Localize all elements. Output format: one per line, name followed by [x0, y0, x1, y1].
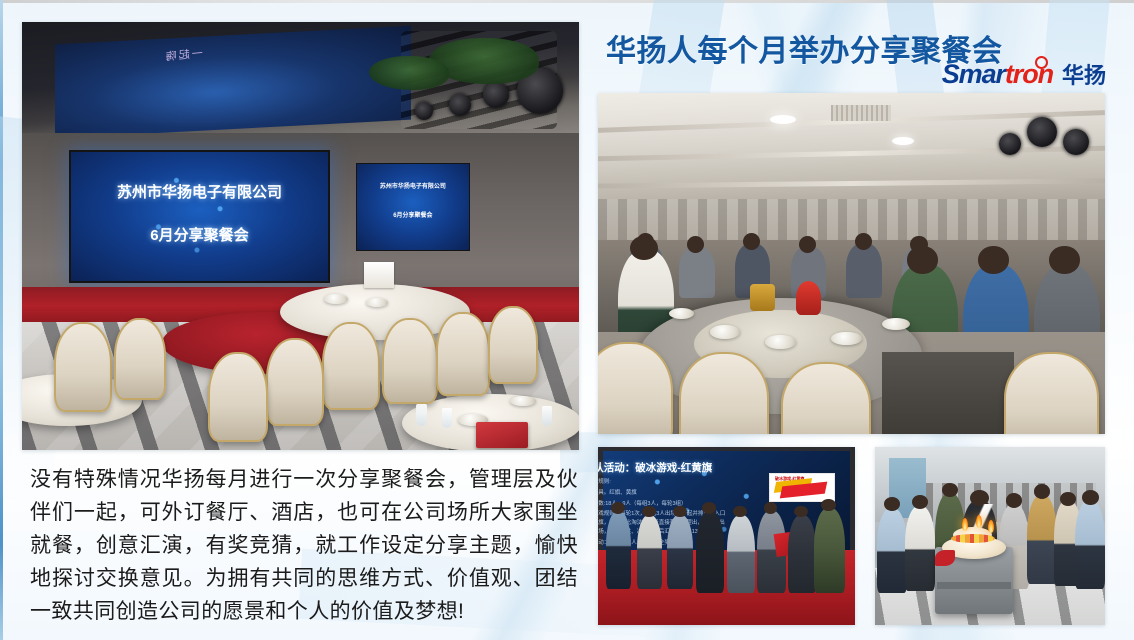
banquet-chair-8 [114, 318, 166, 400]
banquet-plate-3 [831, 332, 861, 346]
table-centerpiece-red [796, 281, 821, 315]
brand-logo-smar: Smar [942, 59, 1005, 90]
banquet-plate-2 [765, 335, 795, 349]
side-led-screen: 苏州市华扬电子有限公司 6月分享聚餐会 [356, 163, 469, 251]
slide-left-accent-bar [0, 0, 3, 640]
cake-guest-head-5 [1034, 484, 1050, 498]
game-screen-line-2: 具。红旗、黄旗 [598, 488, 637, 496]
banquet-chair-2 [382, 318, 438, 404]
table-centerpiece-gold [750, 284, 775, 311]
hall-ceiling-led-text: 一起嗨 [112, 39, 255, 70]
cake-guest-head-7 [1082, 490, 1099, 505]
foreground-person-blue-head [978, 246, 1008, 273]
led-screen-line-2: 6月分享聚餐会 [71, 224, 327, 245]
cake-guest-7 [1075, 500, 1105, 589]
cake-candle-flame-3 [988, 520, 994, 533]
ceiling-vent [831, 105, 891, 121]
led-screen-line-1: 苏州市华扬电子有限公司 [71, 181, 327, 202]
photo-banquet-hall [598, 93, 1105, 434]
photo-birthday-cake [875, 447, 1105, 625]
photo-birthday-cake-content [875, 447, 1105, 625]
cake-guest-2 [905, 506, 935, 591]
body-paragraph: 没有特殊情况华扬每月进行一次分享聚餐会，管理层及伙伴们一起，可外订餐厅、酒店，也… [30, 463, 578, 628]
game-participant-head-8 [821, 499, 836, 511]
photo-conference-hall: 一起嗨 苏州市华扬电子有限公司 6月分享聚餐会 苏州市华扬电子有限公司 6月分享… [22, 22, 579, 450]
banquet-stage-lamp-1 [1027, 117, 1057, 147]
table-glass-1 [416, 404, 427, 426]
game-participant-8 [814, 508, 845, 593]
game-flag-graphic: 破冰游戏-红黄旗 [769, 473, 835, 502]
game-participant-3 [667, 515, 693, 590]
game-participant-head-1 [611, 502, 625, 514]
side-led-line-1: 苏州市华扬电子有限公司 [357, 181, 468, 190]
stage-lamp-4 [415, 102, 433, 120]
cake-guest-head-3 [942, 483, 958, 497]
brand-logo-circle-icon [1035, 56, 1048, 69]
table-sign-card [364, 262, 394, 288]
banquet-foreground-chair-4 [1004, 352, 1099, 434]
banquet-foreground-chair-3 [781, 362, 871, 434]
cake-fruit-decoration [951, 534, 995, 543]
photo-conference-hall-content: 一起嗨 苏州市华扬电子有限公司 6月分享聚餐会 苏州市华扬电子有限公司 6月分享… [22, 22, 579, 450]
banquet-chair-3 [436, 312, 490, 396]
banquet-chair-7 [54, 322, 112, 412]
slide-top-border [0, 0, 1134, 3]
cake-guest-head-4 [1006, 493, 1022, 507]
banquet-plate-1 [710, 325, 740, 339]
foreground-person-green-head [907, 246, 937, 273]
table-plate-1 [324, 294, 348, 304]
ceiling-light-2 [892, 137, 914, 145]
game-screen-title: 队活动：破冰游戏-红黄旗 [598, 460, 712, 475]
serving-cart-shelf [937, 582, 1011, 589]
table-glass-2 [442, 408, 452, 428]
game-participant-head-3 [673, 506, 687, 518]
side-led-line-2: 6月分享聚餐会 [357, 210, 468, 219]
stage-lamp-3 [449, 94, 471, 116]
cake-guest-head-6 [1060, 492, 1076, 506]
guest-5 [846, 243, 881, 298]
game-participant-2 [637, 515, 663, 590]
photo-icebreaker-game: 队活动：破冰游戏-红黄旗 规则: 具。红旗、黄旗 数:18人，9人（每组3人，每… [598, 447, 855, 625]
brand-logo-tron: tron [1005, 59, 1053, 90]
banquet-stage-lamp-2 [1063, 129, 1089, 155]
stage-lamp-2 [483, 82, 509, 108]
table-red-giftbox [476, 422, 528, 448]
foreground-person-gray-head [1049, 246, 1079, 273]
banquet-stage-lamp-3 [999, 133, 1021, 155]
brand-logo: Smar tron 华扬 [942, 58, 1106, 90]
table-plate-2 [366, 298, 388, 307]
game-screen-line-1: 规则: [598, 477, 611, 485]
led-particle-overlay [71, 152, 327, 280]
cake-guest-5 [1027, 495, 1057, 584]
table-glass-3 [542, 406, 552, 426]
game-participant-5 [727, 515, 755, 593]
slide-root: 华扬人每个月举办分享聚餐会 Smar tron 华扬 一起嗨 苏州市华扬 [0, 0, 1134, 640]
photo-icebreaker-content: 队活动：破冰游戏-红黄旗 规则: 具。红旗、黄旗 数:18人，9人（每组3人，每… [598, 447, 855, 625]
cake-guest-1 [877, 508, 907, 593]
guest-2 [679, 246, 714, 297]
banquet-plate-5 [669, 308, 694, 319]
photo-banquet-hall-content [598, 93, 1105, 434]
game-participant-1 [606, 511, 632, 589]
game-participant-4 [696, 511, 724, 593]
table-plate-4 [510, 396, 536, 406]
banquet-chair-6 [488, 306, 538, 384]
main-led-screen: 苏州市华扬电子有限公司 6月分享聚餐会 [69, 150, 329, 282]
hall-ceiling-led-panel: 一起嗨 [55, 25, 411, 138]
game-participant-head-5 [733, 506, 747, 518]
hanging-plant-2 [369, 56, 449, 90]
brand-logo-chinese: 华扬 [1062, 58, 1106, 90]
banquet-chair-5 [208, 352, 268, 442]
guest-head-5 [855, 233, 872, 250]
banquet-chair-4 [266, 338, 324, 426]
banquet-foreground-chair-2 [679, 352, 769, 434]
banquet-chair-1 [322, 322, 380, 410]
banquet-dark-curtain [882, 352, 1014, 434]
game-participant-7 [788, 515, 816, 593]
foreground-person-waitress-head [630, 236, 657, 260]
guest-head-3 [743, 233, 760, 250]
